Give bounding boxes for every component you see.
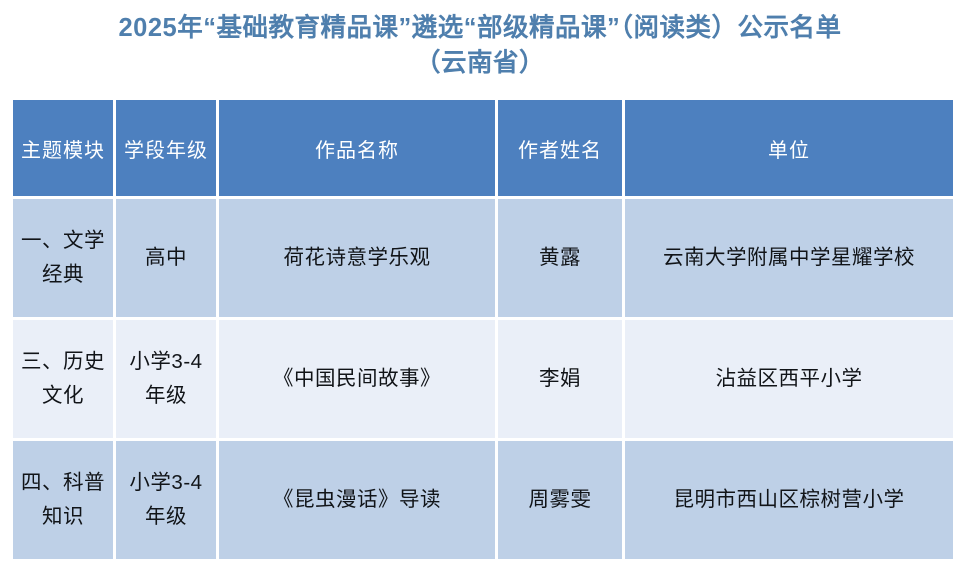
results-table: 主题模块 学段年级 作品名称 作者姓名 单位 一、文学经典 高中 荷花诗意学乐观… bbox=[10, 97, 956, 562]
page-title: 2025年“基础教育精品课”遴选“部级精品课”（阅读类）公示名单 （云南省） bbox=[0, 0, 960, 80]
title-line-main: 2025年“基础教育精品课”遴选“部级精品课”（阅读类）公示名单 bbox=[12, 10, 948, 46]
cell-unit: 云南大学附属中学星耀学校 bbox=[625, 199, 953, 317]
cell-unit: 沾益区西平小学 bbox=[625, 320, 953, 438]
table-row: 三、历史文化 小学3-4年级 《中国民间故事》 李娟 沾益区西平小学 bbox=[13, 320, 953, 438]
cell-author: 周雾雯 bbox=[498, 441, 622, 559]
table-header: 主题模块 学段年级 作品名称 作者姓名 单位 bbox=[13, 100, 953, 196]
table-row: 四、科普知识 小学3-4年级 《昆虫漫话》导读 周雾雯 昆明市西山区棕树营小学 bbox=[13, 441, 953, 559]
column-header-unit: 单位 bbox=[625, 100, 953, 196]
column-header-grade: 学段年级 bbox=[116, 100, 216, 196]
cell-work: 《昆虫漫话》导读 bbox=[219, 441, 495, 559]
cell-grade: 小学3-4年级 bbox=[116, 320, 216, 438]
title-line-province: （云南省） bbox=[12, 46, 948, 80]
column-header-author: 作者姓名 bbox=[498, 100, 622, 196]
cell-work: 荷花诗意学乐观 bbox=[219, 199, 495, 317]
cell-module: 三、历史文化 bbox=[13, 320, 113, 438]
cell-work: 《中国民间故事》 bbox=[219, 320, 495, 438]
cell-module: 一、文学经典 bbox=[13, 199, 113, 317]
cell-module: 四、科普知识 bbox=[13, 441, 113, 559]
cell-unit: 昆明市西山区棕树营小学 bbox=[625, 441, 953, 559]
cell-grade: 小学3-4年级 bbox=[116, 441, 216, 559]
page-root: 2025年“基础教育精品课”遴选“部级精品课”（阅读类）公示名单 （云南省） 主… bbox=[0, 0, 960, 549]
table-header-row: 主题模块 学段年级 作品名称 作者姓名 单位 bbox=[13, 100, 953, 196]
results-table-container: 主题模块 学段年级 作品名称 作者姓名 单位 一、文学经典 高中 荷花诗意学乐观… bbox=[10, 97, 950, 562]
cell-author: 李娟 bbox=[498, 320, 622, 438]
column-header-module: 主题模块 bbox=[13, 100, 113, 196]
column-header-work: 作品名称 bbox=[219, 100, 495, 196]
cell-author: 黄露 bbox=[498, 199, 622, 317]
cell-grade: 高中 bbox=[116, 199, 216, 317]
table-body: 一、文学经典 高中 荷花诗意学乐观 黄露 云南大学附属中学星耀学校 三、历史文化… bbox=[13, 199, 953, 559]
table-row: 一、文学经典 高中 荷花诗意学乐观 黄露 云南大学附属中学星耀学校 bbox=[13, 199, 953, 317]
